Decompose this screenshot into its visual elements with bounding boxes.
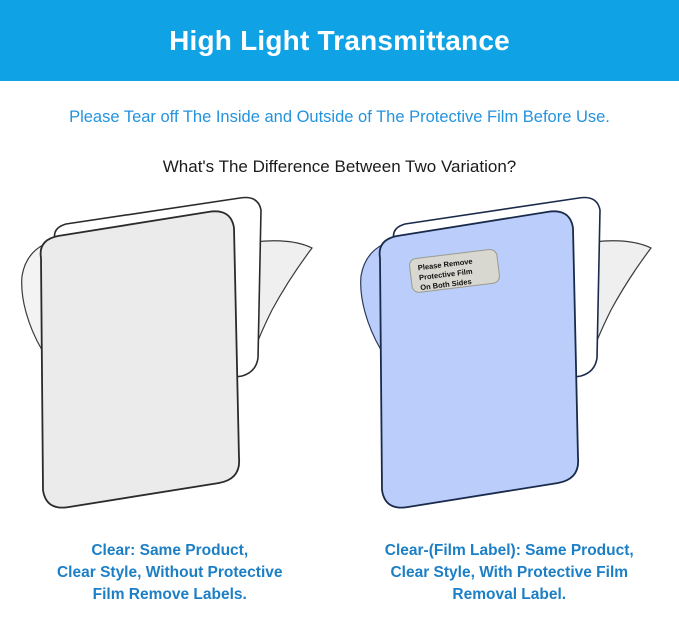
caption-clear-film-label: Clear-(Film Label): Same Product, Clear …	[340, 540, 679, 606]
caption-film-line-1: Clear-(Film Label): Same Product,	[354, 540, 666, 562]
instruction-subtitle: Please Tear off The Inside and Outside o…	[0, 108, 679, 126]
product-illustrations: Please Remove Protective Film On Both Si…	[0, 190, 679, 530]
product-captions: Clear: Same Product, Clear Style, Withou…	[0, 540, 679, 606]
caption-film-line-2: Clear Style, With Protective Film	[354, 562, 666, 584]
caption-clear-line-1: Clear: Same Product,	[14, 540, 326, 562]
caption-clear-line-3: Film Remove Labels.	[14, 584, 326, 606]
header-banner: High Light Transmittance	[0, 0, 679, 81]
caption-clear-line-2: Clear Style, Without Protective	[14, 562, 326, 584]
caption-clear: Clear: Same Product, Clear Style, Withou…	[0, 540, 340, 606]
comparison-question: What's The Difference Between Two Variat…	[0, 158, 679, 177]
product-image-clear	[0, 190, 340, 530]
page-title: High Light Transmittance	[169, 27, 510, 55]
caption-film-line-3: Removal Label.	[354, 584, 666, 606]
product-comparison-page: High Light Transmittance Please Tear off…	[0, 0, 679, 618]
product-image-clear-film-label: Please Remove Protective Film On Both Si…	[339, 190, 679, 530]
clear-front-sheet	[41, 211, 240, 507]
